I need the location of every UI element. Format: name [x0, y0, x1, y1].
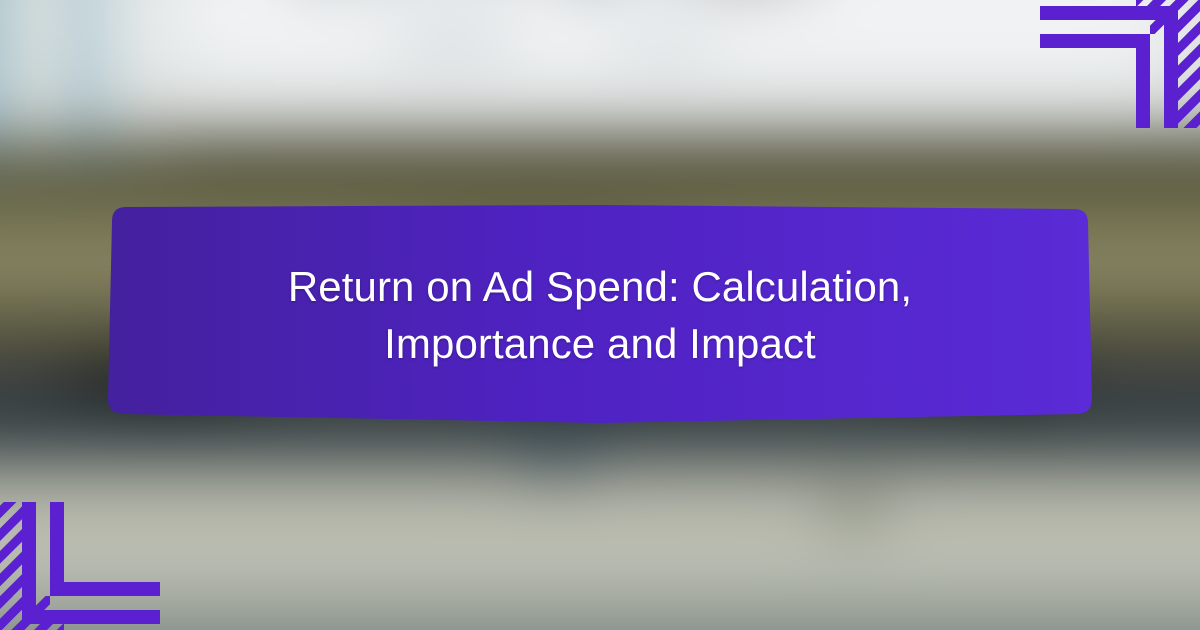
corner-bracket-top-right: [1040, 0, 1200, 128]
banner-text-area: Return on Ad Spend: Calculation, Importa…: [100, 203, 1100, 427]
corner-bar-horizontal-inner: [1040, 34, 1150, 48]
title-banner: Return on Ad Spend: Calculation, Importa…: [100, 203, 1100, 427]
corner-bar-vertical-inner: [50, 502, 64, 596]
page-title: Return on Ad Spend: Calculation, Importa…: [196, 258, 1004, 372]
corner-bar-horizontal-inner: [50, 582, 160, 596]
corner-diagonal-stripes: [1136, 0, 1200, 128]
corner-bracket-bottom-left: [0, 502, 160, 630]
social-share-card: Return on Ad Spend: Calculation, Importa…: [0, 0, 1200, 630]
